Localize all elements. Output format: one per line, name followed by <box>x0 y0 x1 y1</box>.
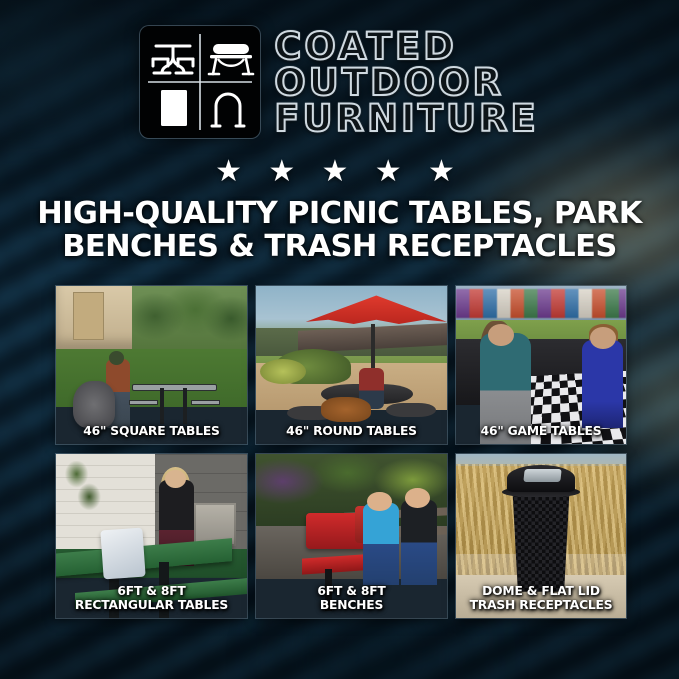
star-rating: ★ ★ ★ ★ ★ <box>0 157 679 187</box>
caption-main: 46" GAME TABLES <box>481 424 602 438</box>
caption-main: 46" ROUND TABLES <box>286 424 417 438</box>
caption-main: 46" SQUARE TABLES <box>83 424 219 438</box>
product-tile-trash-receptacles[interactable]: DOME & FLAT LID TRASH RECEPTACLES <box>456 454 626 618</box>
product-caption-trash-receptacles: DOME & FLAT LID TRASH RECEPTACLES <box>456 585 626 613</box>
product-photo-round-tables <box>256 286 447 444</box>
product-photo-square-tables <box>56 286 247 444</box>
product-tile-benches[interactable]: 6FT & 8FT BENCHES <box>256 454 447 618</box>
product-caption-square-tables: 46" SQUARE TABLES <box>56 425 247 439</box>
promotional-banner: COATED OUTDOOR FURNITURE ★ ★ ★ ★ ★ HIGH-… <box>0 0 679 679</box>
product-caption-benches: 6FT & 8FT BENCHES <box>256 585 447 613</box>
headline: HIGH-QUALITY PICNIC TABLES, PARK BENCHES… <box>26 198 653 264</box>
logo-line-1: COATED <box>274 29 539 65</box>
product-tile-square-tables[interactable]: 46" SQUARE TABLES <box>56 286 247 444</box>
logo-mark-icon <box>140 26 260 138</box>
logo-wordmark: COATED OUTDOOR FURNITURE <box>274 29 539 137</box>
product-tile-rectangular-tables[interactable]: 6FT & 8FT RECTANGULAR TABLES <box>56 454 247 618</box>
headline-line-1: HIGH-QUALITY PICNIC TABLES, PARK <box>37 196 642 231</box>
product-photo-game-tables <box>456 286 626 444</box>
product-tile-game-tables[interactable]: 46" GAME TABLES <box>456 286 626 444</box>
brand-logo: COATED OUTDOOR FURNITURE <box>0 26 679 138</box>
product-tile-round-tables[interactable]: 46" ROUND TABLES <box>256 286 447 444</box>
logo-line-2: OUTDOOR <box>274 65 539 101</box>
product-caption-round-tables: 46" ROUND TABLES <box>256 425 447 439</box>
logo-line-3: FURNITURE <box>274 101 539 137</box>
caption-main: DOME & FLAT LID <box>482 584 600 598</box>
product-grid: 46" SQUARE TABLES 46" ROUND TABLES <box>56 286 624 618</box>
headline-line-2: BENCHES & TRASH RECEPTACLES <box>26 231 653 264</box>
caption-sub: TRASH RECEPTACLES <box>459 599 623 613</box>
caption-sub: RECTANGULAR TABLES <box>59 599 244 613</box>
caption-main: 6FT & 8FT <box>117 584 185 598</box>
product-caption-rectangular-tables: 6FT & 8FT RECTANGULAR TABLES <box>56 585 247 613</box>
product-caption-game-tables: 46" GAME TABLES <box>456 425 626 439</box>
caption-main: 6FT & 8FT <box>317 584 385 598</box>
caption-sub: BENCHES <box>259 599 444 613</box>
